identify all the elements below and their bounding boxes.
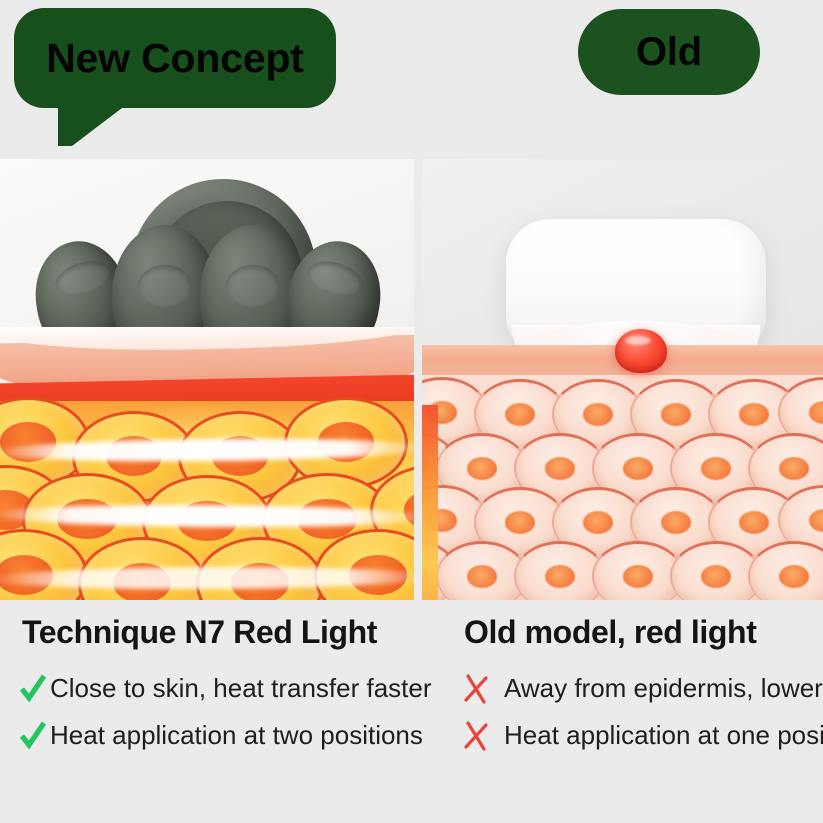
- check-icon: [18, 672, 48, 706]
- check-icon: [18, 719, 48, 753]
- cool-cell-field: [422, 375, 823, 600]
- caption-column-new: Technique N7 Red Light Close to skin, he…: [0, 600, 420, 823]
- drawback-list-old: Away from epidermis, lower heat Heat app…: [428, 665, 823, 759]
- panel-divider: [414, 159, 422, 600]
- cell-nucleus: [505, 511, 535, 534]
- speech-bubble-tail: [58, 108, 122, 146]
- cell-nucleus: [739, 403, 769, 426]
- cell-nucleus: [809, 401, 823, 424]
- badge-old-label: Old: [636, 30, 702, 75]
- cell-nucleus: [809, 509, 823, 532]
- cell-nucleus: [701, 565, 731, 588]
- illustration-panels: [0, 159, 823, 600]
- lobe-inner-disc: [304, 255, 366, 300]
- cell-nucleus: [467, 565, 497, 588]
- skin-cross-section-heated: [0, 327, 414, 600]
- cell-nucleus: [467, 457, 497, 480]
- cell-nucleus: [583, 511, 613, 534]
- cell-nucleus: [545, 565, 575, 588]
- x-icon: [460, 672, 494, 706]
- drawback-text: Away from epidermis, lower heat: [504, 673, 823, 704]
- comparison-captions: Technique N7 Red Light Close to skin, he…: [0, 600, 823, 823]
- cell-nucleus: [583, 403, 613, 426]
- adjacent-panel-glow-bleed: [422, 405, 438, 600]
- panel-old-model-illustration: [422, 159, 823, 600]
- list-item: Away from epidermis, lower heat: [460, 665, 823, 712]
- heated-cell-field: [0, 401, 414, 600]
- badge-new-concept: New Concept: [14, 8, 336, 108]
- cell-nucleus: [623, 457, 653, 480]
- caption-title-old: Old model, red light: [464, 614, 823, 651]
- lobe-inner-disc: [52, 255, 114, 300]
- cell-nucleus: [739, 511, 769, 534]
- cell-nucleus: [779, 565, 809, 588]
- cell-nucleus: [661, 511, 691, 534]
- cell-nucleus: [701, 457, 731, 480]
- benefit-text: Heat application at two positions: [50, 720, 423, 751]
- cell-nucleus: [404, 490, 414, 530]
- benefit-list-new: Close to skin, heat transfer faster Heat…: [0, 665, 420, 759]
- comparison-infographic: New Concept Old: [0, 0, 823, 823]
- list-item: Close to skin, heat transfer faster: [18, 665, 420, 712]
- caption-column-old: Old model, red light Away from epidermis…: [428, 600, 823, 823]
- panel-new-concept-illustration: [0, 159, 414, 600]
- drawback-text: Heat application at one position: [504, 720, 823, 751]
- old-device-body: [506, 219, 766, 351]
- badge-row: New Concept Old: [0, 0, 823, 158]
- cell-nucleus: [779, 457, 809, 480]
- skin-cross-section-cool: [422, 345, 823, 600]
- badge-new-concept-label: New Concept: [46, 35, 304, 82]
- cell-nucleus: [545, 457, 575, 480]
- list-item: Heat application at one position: [460, 712, 823, 759]
- cell-nucleus: [623, 565, 653, 588]
- badge-old: Old: [578, 9, 760, 95]
- lobe-inner-disc: [226, 265, 280, 307]
- x-icon: [460, 719, 494, 753]
- cell-nucleus: [661, 403, 691, 426]
- lobe-inner-disc: [138, 265, 192, 307]
- red-led-icon: [615, 329, 667, 373]
- benefit-text: Close to skin, heat transfer faster: [50, 673, 432, 704]
- cell-nucleus: [505, 403, 535, 426]
- list-item: Heat application at two positions: [18, 712, 420, 759]
- caption-title-new: Technique N7 Red Light: [22, 614, 420, 651]
